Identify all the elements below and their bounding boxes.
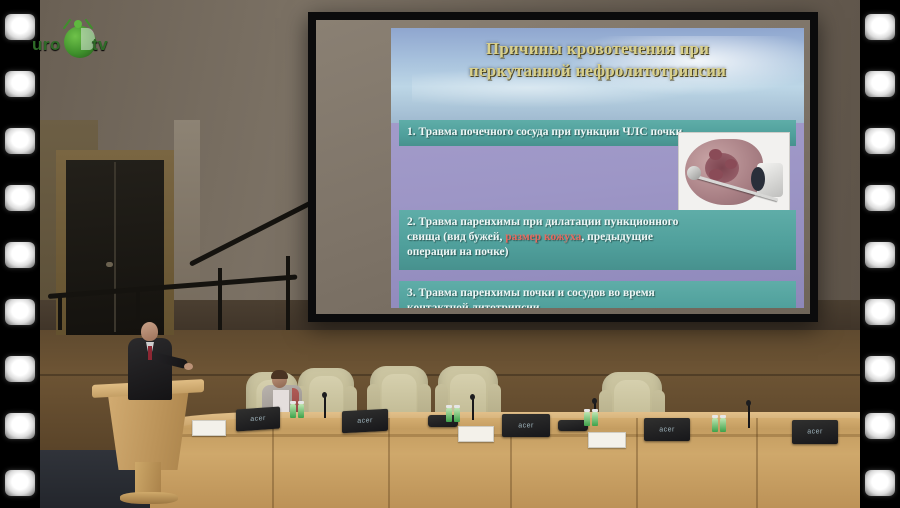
podium-base — [120, 492, 178, 504]
slide-bullet-2: 2. Травма паренхимы при дилатации пункци… — [399, 210, 796, 270]
nameplate-card — [588, 432, 626, 448]
laptop-acer: acer — [342, 409, 388, 433]
bullet-2-post: , предыдущие — [581, 231, 653, 243]
bottle-cap — [446, 405, 452, 408]
slide-title-line-1: Причины кровотечения при — [391, 38, 804, 60]
water-bottle — [446, 408, 452, 422]
slide-title: Причины кровотечения при перкутанной неф… — [391, 38, 804, 82]
screen-surface: Причины кровотечения при перкутанной неф… — [316, 20, 810, 314]
uro-tv-logo: uro tv — [30, 18, 134, 68]
slide-bullet-2-line-1: 2. Травма паренхимы при дилатации пункци… — [407, 215, 788, 230]
logo-text-left: uro — [32, 35, 61, 55]
laptop-acer: acer — [502, 414, 550, 437]
probe-head — [751, 167, 765, 191]
water-bottle — [298, 404, 304, 418]
wall-light-column — [174, 120, 200, 330]
film-perforation — [5, 71, 35, 97]
door-handle-icon — [106, 262, 113, 267]
acer-logo: acer — [357, 417, 373, 425]
film-perforation — [5, 185, 35, 211]
acer-logo: acer — [807, 429, 823, 436]
desk-panel-seam — [388, 418, 390, 508]
bullet-2-highlight: размер кожуха — [505, 231, 581, 243]
bottle-cap — [290, 401, 296, 404]
bottle-cap — [720, 415, 726, 418]
slide-bullet-3-line-2: контактной литотрипсии — [407, 301, 788, 308]
logo-emblem-head-icon — [74, 20, 82, 28]
microphone-stem — [472, 398, 474, 420]
microphone-head — [322, 392, 327, 398]
film-perforation — [5, 413, 35, 439]
logo-text-right: tv — [92, 35, 108, 55]
water-bottle — [454, 408, 460, 422]
film-perforation — [865, 413, 895, 439]
video-picture: Причины кровотечения при перкутанной неф… — [40, 0, 860, 508]
film-strip-left — [0, 0, 40, 508]
bottle-cap — [712, 415, 718, 418]
speaker-hand — [184, 363, 193, 370]
film-strip-right — [860, 0, 900, 508]
door-split-line — [114, 162, 116, 332]
bottle-cap — [592, 409, 598, 412]
laptop-acer: acer — [236, 406, 280, 431]
laptop-acer: acer — [644, 418, 690, 441]
film-perforation — [5, 356, 35, 382]
film-perforation — [5, 299, 35, 325]
nameplate-card — [458, 426, 494, 442]
kidney-puncture-diagram — [678, 132, 790, 214]
slide-bullet-2-line-2: свища (вид бужей, размер кожуха, предыду… — [407, 230, 788, 245]
laptop-acer: acer — [792, 420, 838, 444]
film-perforation — [5, 242, 35, 268]
acer-logo: acer — [518, 422, 534, 429]
microphone-stem — [748, 404, 750, 428]
water-bottle — [592, 412, 598, 426]
bullet-2-pre: свища (вид бужей, — [407, 231, 505, 243]
desk-panel-seam — [756, 418, 758, 508]
bottle-cap — [454, 405, 460, 408]
bottle-cap — [298, 401, 304, 404]
slide-bullet-3-line-1: 3. Травма паренхимы почки и сосудов во в… — [407, 286, 788, 301]
water-bottle — [290, 404, 296, 418]
microphone-head — [470, 394, 475, 400]
panelist-hair — [271, 370, 288, 379]
water-bottle — [720, 418, 726, 432]
acer-logo: acer — [659, 426, 675, 433]
bottle-cap — [584, 409, 590, 412]
film-perforation — [865, 128, 895, 154]
microphone-head — [592, 398, 597, 404]
water-bottle — [712, 418, 718, 432]
film-perforation — [5, 128, 35, 154]
kidney-calyx — [709, 149, 722, 160]
nameplate-card — [192, 420, 226, 436]
desk-panel-seam — [636, 418, 638, 508]
slide-title-line-2: перкутанной нефролитотрипсии — [391, 60, 804, 82]
rail-post — [136, 289, 140, 329]
kidney-calyx — [725, 159, 737, 169]
rail-post — [58, 296, 62, 330]
presentation-slide: Причины кровотечения при перкутанной неф… — [391, 28, 804, 308]
slide-bullet-3: 3. Травма паренхимы почки и сосудов во в… — [399, 281, 796, 308]
film-perforation — [865, 14, 895, 40]
microphone-head — [746, 400, 751, 406]
film-perforation — [865, 242, 895, 268]
desk-panel-seam — [272, 418, 274, 508]
slide-bullet-2-line-3: операции на почке) — [407, 245, 788, 260]
rail-post — [218, 268, 222, 330]
water-bottle — [584, 412, 590, 426]
film-perforation — [865, 71, 895, 97]
needle-hub — [687, 166, 701, 180]
film-perforation — [865, 356, 895, 382]
acer-logo: acer — [250, 415, 266, 423]
slide-bullet-1-text: 1. Травма почечного сосуда при пункции Ч… — [407, 126, 682, 138]
film-perforation — [865, 470, 895, 496]
speaker-head — [141, 322, 158, 341]
microphone-stem — [324, 396, 326, 418]
film-perforation — [865, 299, 895, 325]
film-perforation — [5, 470, 35, 496]
projection-screen: Причины кровотечения при перкутанной неф… — [308, 12, 818, 322]
film-perforation — [865, 185, 895, 211]
video-frame: Причины кровотечения при перкутанной неф… — [0, 0, 900, 508]
rail-post — [286, 256, 290, 330]
